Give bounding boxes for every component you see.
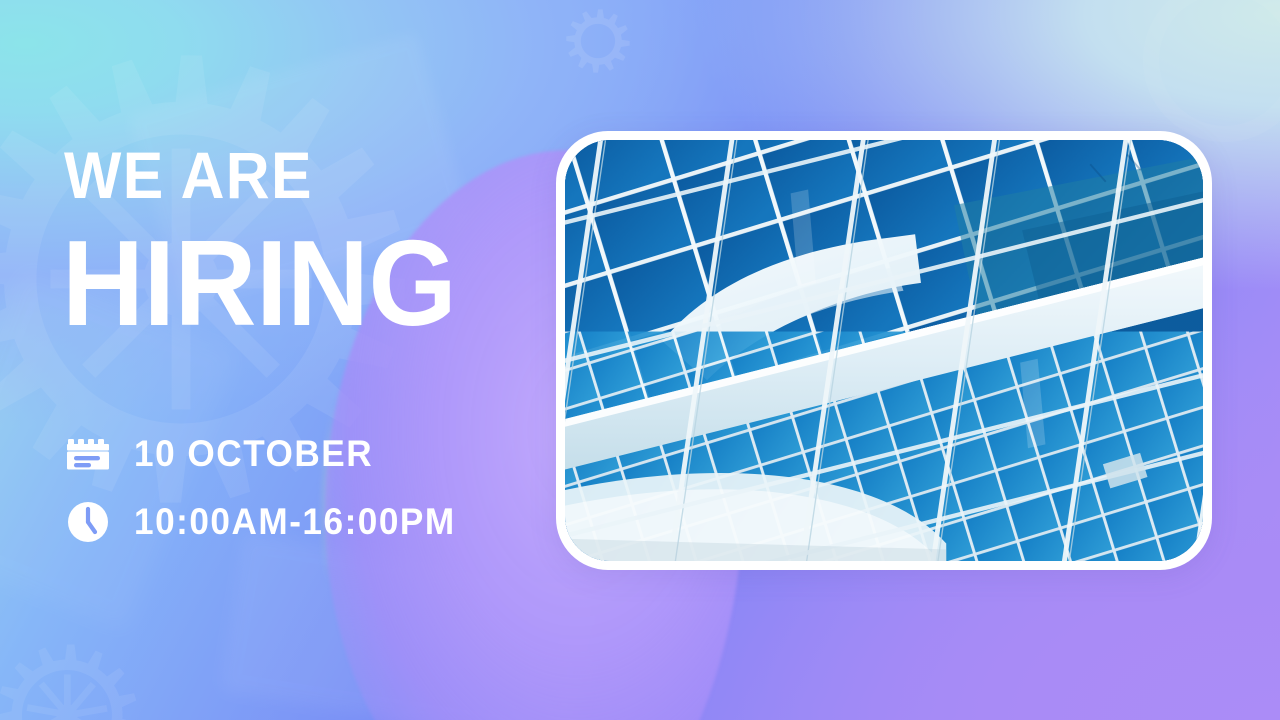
building-photo <box>565 140 1203 561</box>
event-date-row: 10 OCTOBER <box>64 430 386 478</box>
clock-icon <box>64 498 112 546</box>
hiring-poster: WE ARE HIRING <box>0 0 1280 720</box>
headline-line-2: HIRING <box>62 222 456 344</box>
calendar-icon <box>64 430 112 478</box>
event-date-text: 10 OCTOBER <box>134 433 373 475</box>
event-time-row: 10:00AM-16:00PM <box>64 498 473 546</box>
event-time-text: 10:00AM-16:00PM <box>134 501 456 543</box>
gear-icon <box>0 640 142 720</box>
headline-line-1: WE ARE <box>64 142 313 208</box>
gear-icon <box>565 8 631 74</box>
photo-card <box>556 131 1212 570</box>
